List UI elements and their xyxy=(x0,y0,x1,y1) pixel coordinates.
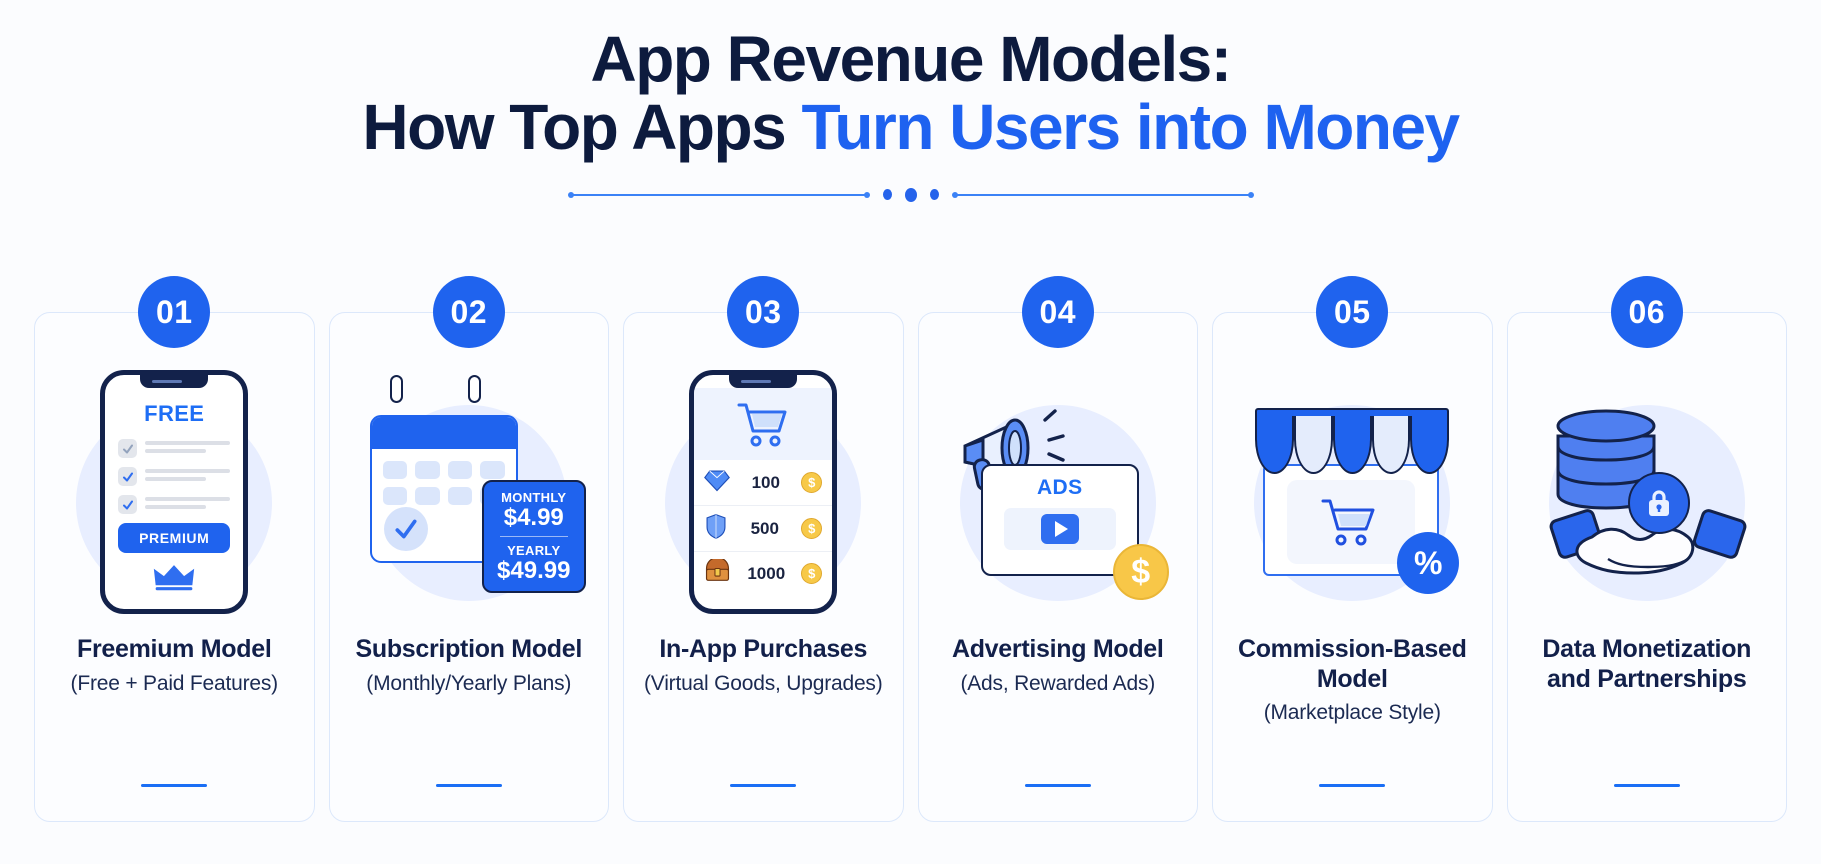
play-icon[interactable] xyxy=(1041,514,1079,544)
yearly-price: $49.99 xyxy=(490,558,578,583)
iap-amount: 500 xyxy=(736,519,793,539)
iap-row: 500 $ xyxy=(694,506,832,552)
ads-label: ADS xyxy=(1037,476,1083,500)
crown-icon xyxy=(105,563,243,591)
iap-list: 100 $ 500 $ 1000 $ xyxy=(694,460,832,595)
price-card: MONTHLY $4.99 YEARLY $49.99 xyxy=(482,480,586,593)
card-caption: Freemium Model (Free + Paid Features) xyxy=(35,635,314,697)
card-in-app-purchases[interactable]: 03 100 $ xyxy=(623,312,904,822)
ad-video-strip xyxy=(1004,508,1116,550)
card-number-badge: 06 xyxy=(1611,276,1683,348)
phone-notch xyxy=(729,375,797,388)
card-caption: Data Monetization and Partnerships xyxy=(1508,635,1787,700)
card-subscription[interactable]: 02 MONTH xyxy=(329,312,610,822)
title-line-2: How Top Apps Turn Users into Money xyxy=(0,94,1821,162)
coin-icon: $ xyxy=(801,563,822,584)
price-divider xyxy=(500,536,568,537)
awning-stripes xyxy=(1255,416,1449,474)
lock-icon xyxy=(1628,472,1690,534)
divider-line-right xyxy=(953,194,1253,196)
title-plain: How Top Apps xyxy=(362,91,801,163)
card-title: Subscription Model xyxy=(344,635,595,665)
card-number-badge: 02 xyxy=(433,276,505,348)
card-accent-underline xyxy=(141,784,207,787)
title-line-1: App Revenue Models: xyxy=(0,26,1821,94)
card-title: In-App Purchases xyxy=(638,635,889,665)
card-title: Advertising Model xyxy=(933,635,1184,665)
shopping-cart-icon xyxy=(694,388,832,460)
calendar-ring xyxy=(390,375,403,403)
card-number-badge: 03 xyxy=(727,276,799,348)
card-illustration: ADS $ xyxy=(919,357,1198,627)
card-illustration: % xyxy=(1213,357,1492,627)
diamond-icon xyxy=(704,467,730,498)
card-illustration: MONTHLY $4.99 YEARLY $49.99 xyxy=(330,357,609,627)
phone-notch xyxy=(140,375,208,388)
title-block: App Revenue Models: How Top Apps Turn Us… xyxy=(0,0,1821,162)
card-title: Data Monetization and Partnerships xyxy=(1522,635,1773,694)
megaphone-icon: ADS $ xyxy=(953,392,1163,592)
card-caption: In-App Purchases (Virtual Goods, Upgrade… xyxy=(624,635,903,697)
card-accent-underline xyxy=(1319,784,1385,787)
premium-button[interactable]: PREMIUM xyxy=(118,523,230,553)
check-icon xyxy=(118,439,137,458)
feature-list xyxy=(118,439,230,514)
card-number-badge: 01 xyxy=(138,276,210,348)
monthly-price: $4.99 xyxy=(490,505,578,530)
card-accent-underline xyxy=(1614,784,1680,787)
card-subtitle: (Monthly/Yearly Plans) xyxy=(344,671,595,697)
card-illustration xyxy=(1508,357,1787,627)
infographic-canvas: App Revenue Models: How Top Apps Turn Us… xyxy=(0,0,1821,864)
coin-icon: $ xyxy=(801,518,822,539)
card-advertising[interactable]: 04 ADS xyxy=(918,312,1199,822)
iap-row: 1000 $ xyxy=(694,552,832,595)
card-freemium[interactable]: 01 FREE PREMIUM xyxy=(34,312,315,822)
yearly-label: YEARLY xyxy=(490,543,578,558)
phone-cart-icon: 100 $ 500 $ 1000 $ xyxy=(689,370,837,614)
feature-row xyxy=(118,495,230,514)
card-illustration: FREE PREMIUM xyxy=(35,357,314,627)
iap-amount: 100 xyxy=(738,473,793,493)
card-accent-underline xyxy=(436,784,502,787)
card-title: Commission-Based Model xyxy=(1227,635,1478,694)
card-subtitle: (Virtual Goods, Upgrades) xyxy=(638,671,889,697)
divider-dots xyxy=(883,188,939,202)
card-row: 01 FREE PREMIUM xyxy=(0,312,1821,822)
calendar-header xyxy=(372,417,516,449)
coin-icon: $ xyxy=(1113,544,1169,600)
divider-line-left xyxy=(569,194,869,196)
calendar-ring xyxy=(468,375,481,403)
card-title: Freemium Model xyxy=(49,635,300,665)
coin-icon: $ xyxy=(801,472,822,493)
calendar-check-icon xyxy=(384,507,428,551)
feature-row xyxy=(118,439,230,458)
store-window xyxy=(1287,480,1415,564)
treasure-chest-icon xyxy=(704,559,731,588)
card-data-monetization[interactable]: 06 xyxy=(1507,312,1788,822)
section-divider xyxy=(0,188,1821,202)
card-caption: Commission-Based Model (Marketplace Styl… xyxy=(1213,635,1492,726)
card-number-badge: 04 xyxy=(1022,276,1094,348)
check-icon xyxy=(118,495,137,514)
card-illustration: 100 $ 500 $ 1000 $ xyxy=(624,357,903,627)
title-accent: Turn Users into Money xyxy=(801,91,1458,163)
card-accent-underline xyxy=(730,784,796,787)
phone-freemium-icon: FREE PREMIUM xyxy=(100,370,248,614)
card-number-badge: 05 xyxy=(1316,276,1388,348)
card-accent-underline xyxy=(1025,784,1091,787)
free-label: FREE xyxy=(105,401,243,427)
card-caption: Subscription Model (Monthly/Yearly Plans… xyxy=(330,635,609,697)
check-icon xyxy=(118,467,137,486)
iap-amount: 1000 xyxy=(739,564,793,584)
shield-icon xyxy=(704,513,728,544)
card-commission[interactable]: 05 % Commission-Based Model xyxy=(1212,312,1493,822)
feature-row xyxy=(118,467,230,486)
storefront-icon: % xyxy=(1247,394,1457,590)
card-subtitle: (Free + Paid Features) xyxy=(49,671,300,697)
iap-row: 100 $ xyxy=(694,460,832,506)
percent-badge: % xyxy=(1397,532,1459,594)
card-subtitle: (Ads, Rewarded Ads) xyxy=(933,671,1184,697)
card-caption: Advertising Model (Ads, Rewarded Ads) xyxy=(919,635,1198,697)
calendar-subscription-icon: MONTHLY $4.99 YEARLY $49.99 xyxy=(364,387,574,597)
database-handshake-icon xyxy=(1542,394,1752,590)
monthly-label: MONTHLY xyxy=(490,490,578,505)
card-subtitle: (Marketplace Style) xyxy=(1227,700,1478,726)
